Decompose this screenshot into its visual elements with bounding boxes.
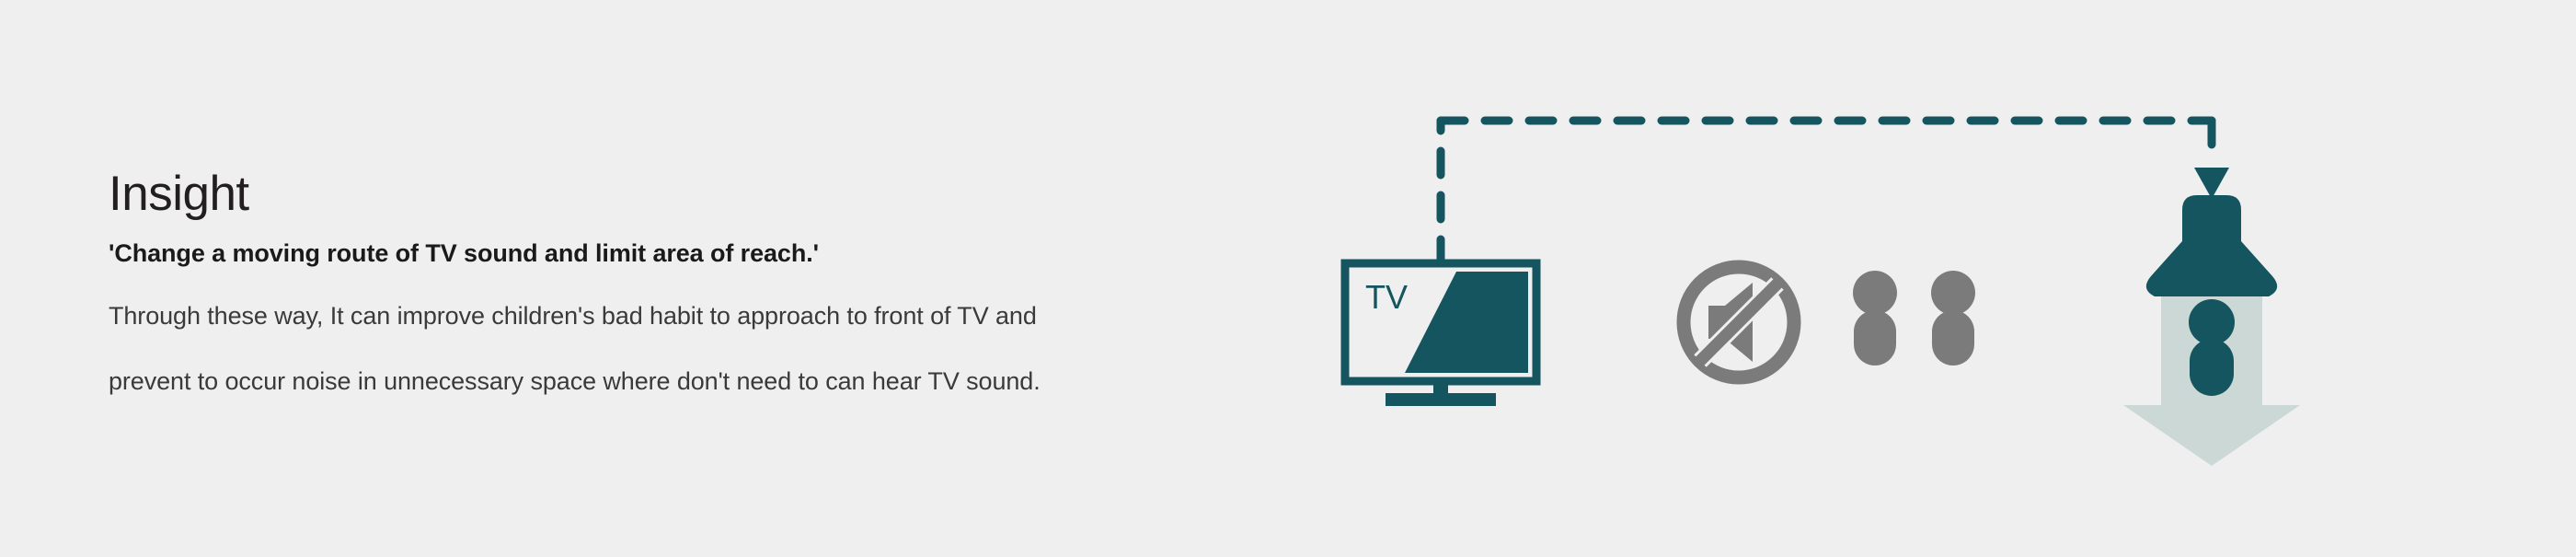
person-figure-1 <box>1853 271 1897 366</box>
mute-slash-gap <box>1700 284 1777 361</box>
route-arrowhead-icon <box>2194 168 2229 199</box>
mute-ring <box>1684 267 1794 377</box>
tv-label: TV <box>1365 278 1408 316</box>
tv-sound-beam <box>1405 272 1528 373</box>
person-head-1 <box>1853 271 1897 315</box>
insight-body-line-2: prevent to occur noise in unnecessary sp… <box>109 362 1121 402</box>
person-head-2 <box>1931 271 1975 315</box>
downward-arrow-body <box>2123 274 2300 466</box>
directional-speaker-arrow-icon <box>2123 195 2300 466</box>
tv-bezel <box>1345 263 1536 381</box>
person-inside-zone <box>2189 299 2235 396</box>
person-body-1 <box>1854 310 1896 366</box>
mute-speaker-body <box>1708 283 1753 362</box>
tv-icon: TV <box>1345 263 1536 406</box>
person-body-3 <box>2190 339 2234 396</box>
person-head-3 <box>2189 299 2235 345</box>
speaker-bell <box>2146 195 2277 296</box>
insight-text-block: Insight 'Change a moving route of TV sou… <box>109 168 1121 427</box>
mute-slash-icon <box>1700 284 1777 361</box>
mute-speaker-icon <box>1684 267 1794 377</box>
tv-stand-base <box>1386 393 1496 406</box>
speaker-cone <box>1708 283 1753 362</box>
people-icon <box>1853 271 1975 366</box>
insight-body-line-1: Through these way, It can improve childr… <box>109 296 1121 337</box>
page-title: Insight <box>109 168 1121 220</box>
person-body-2 <box>1932 310 1974 366</box>
tv-screen <box>1353 272 1528 373</box>
person-figure-2 <box>1931 271 1975 366</box>
tv-stand-neck <box>1433 381 1448 400</box>
dashed-route-arrow <box>1441 121 2229 263</box>
insight-quote: 'Change a moving route of TV sound and l… <box>109 235 1121 273</box>
slide-canvas: Insight 'Change a moving route of TV sou… <box>0 0 2576 557</box>
